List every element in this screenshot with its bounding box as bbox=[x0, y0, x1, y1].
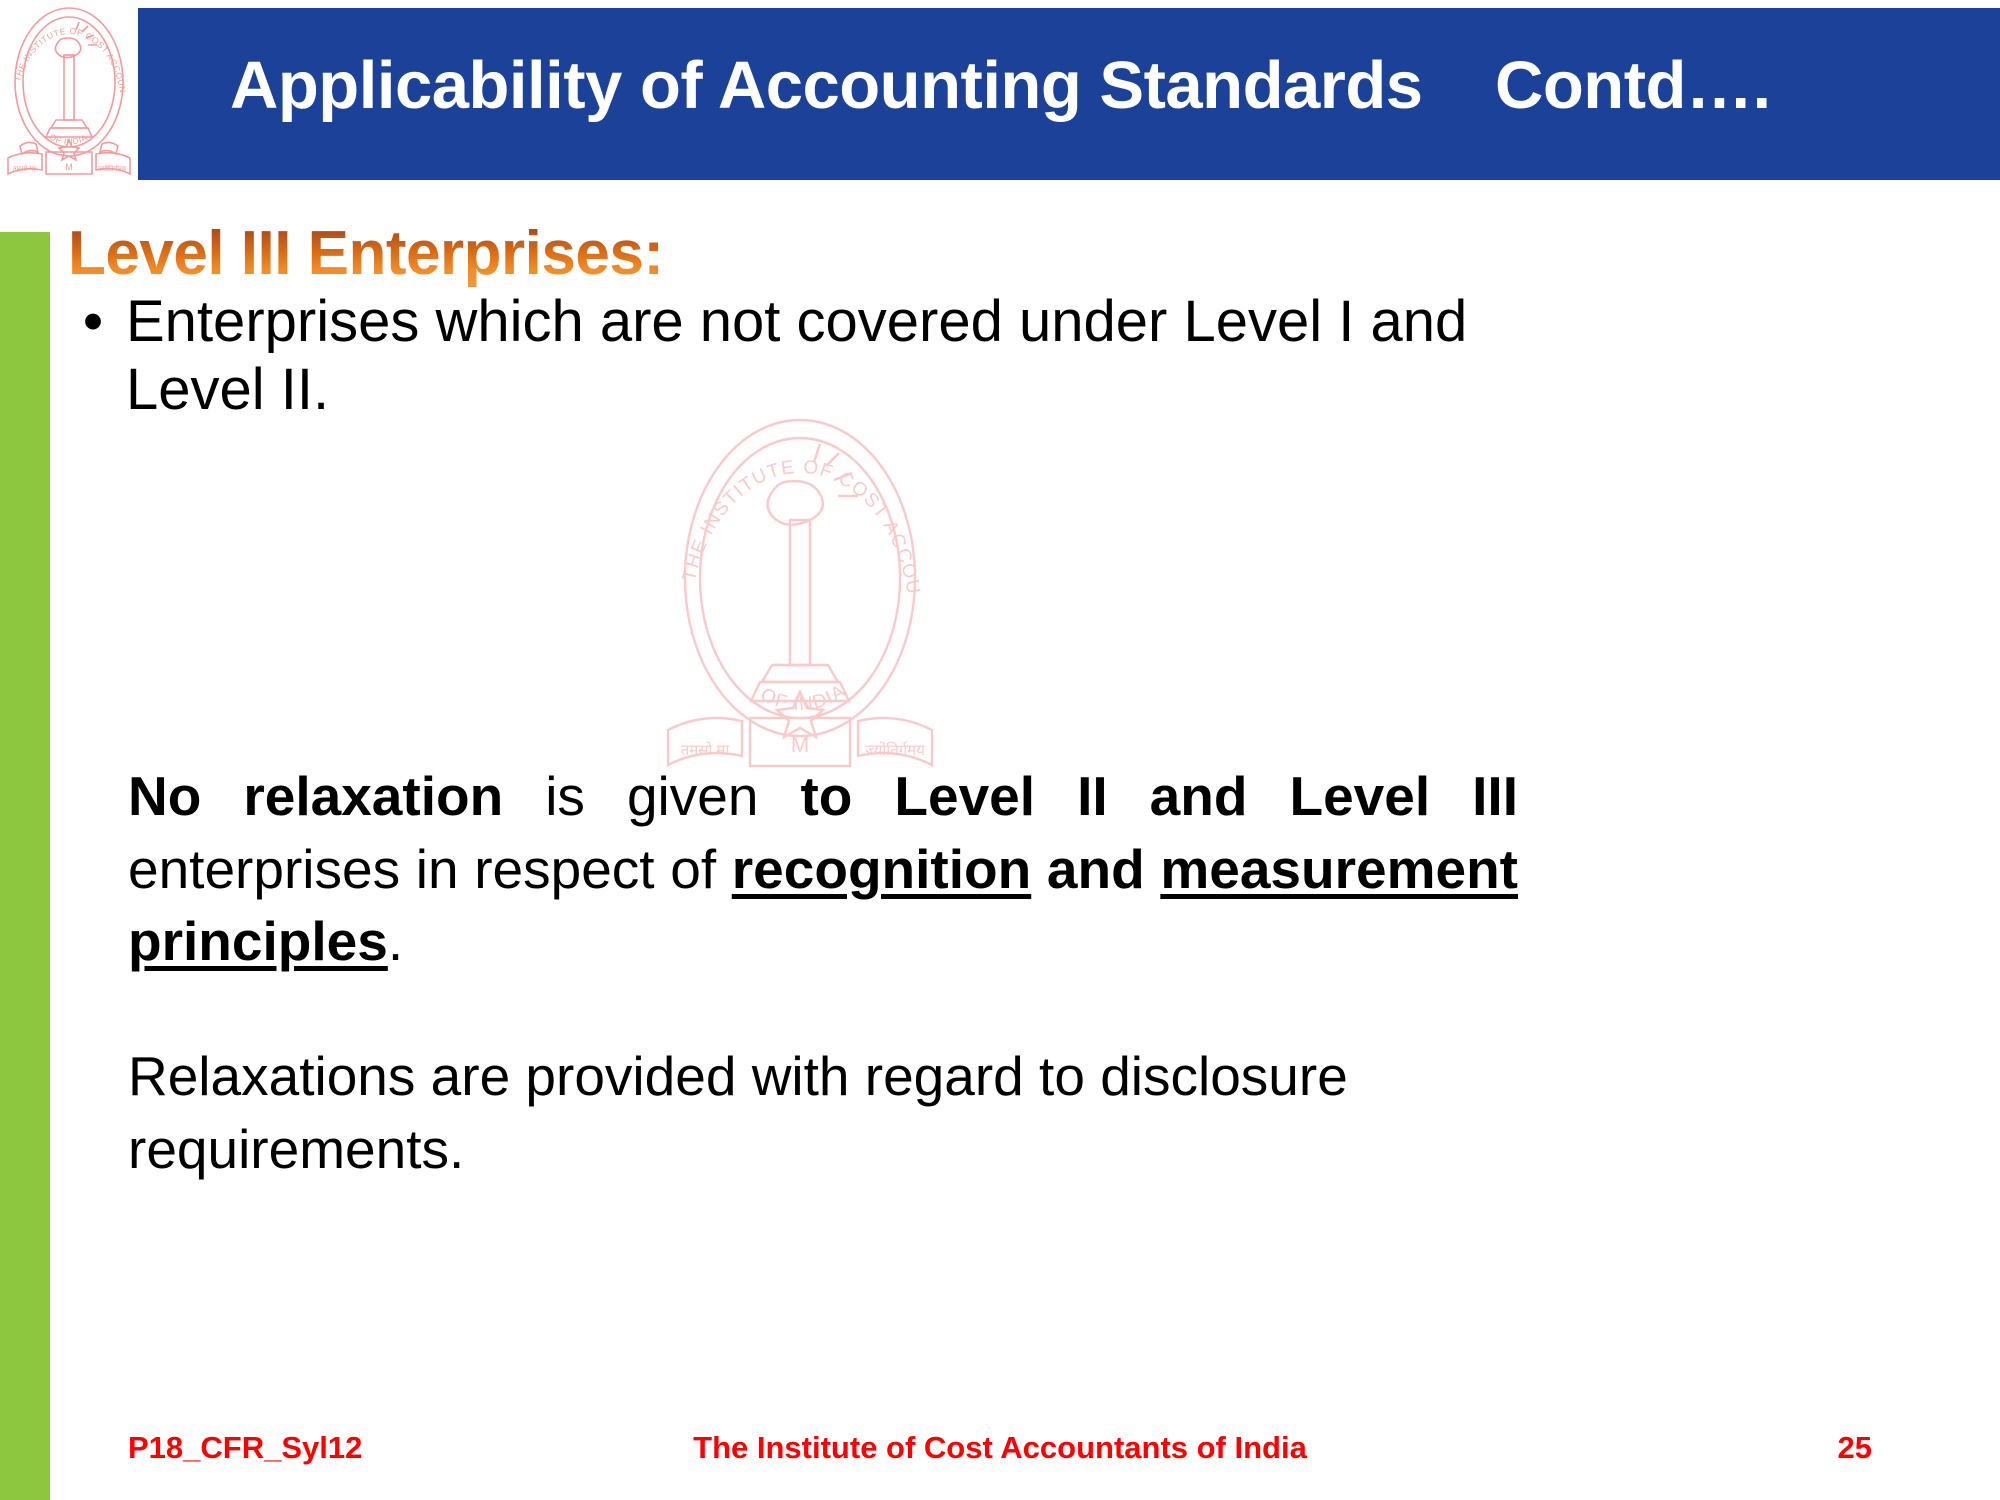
footer-institute-name: The Institute of Cost Accountants of Ind… bbox=[0, 1430, 2000, 1466]
para-part-is-given: is given bbox=[503, 765, 800, 827]
bullet-item: • Enterprises which are not covered unde… bbox=[60, 288, 1960, 425]
footer: P18_CFR_Syl12 The Institute of Cost Acco… bbox=[0, 1430, 2000, 1476]
paragraph-no-relaxation: No relaxation is given to Level II and L… bbox=[128, 760, 1518, 978]
slide-body: Level III Enterprises: • Enterprises whi… bbox=[0, 0, 2000, 1500]
section-heading: Level III Enterprises: bbox=[68, 218, 663, 289]
para-part-enterprises: enterprises in respect of bbox=[128, 838, 732, 900]
para-part-period: . bbox=[388, 910, 403, 972]
para-part-and: and bbox=[1031, 838, 1160, 900]
footer-page-number: 25 bbox=[1838, 1430, 1872, 1466]
para-part-no-relaxation: No relaxation bbox=[128, 765, 503, 827]
para-part-levels: to Level II and Level III bbox=[800, 765, 1518, 827]
para-part-recognition: recognition bbox=[732, 838, 1031, 900]
bullet-marker-icon: • bbox=[60, 288, 126, 356]
bullet-text: Enterprises which are not covered under … bbox=[126, 288, 1576, 425]
paragraph-relaxations: Relaxations are provided with regard to … bbox=[128, 1040, 1528, 1185]
slide-canvas: Applicability of Accounting Standards Co… bbox=[0, 0, 2000, 1500]
